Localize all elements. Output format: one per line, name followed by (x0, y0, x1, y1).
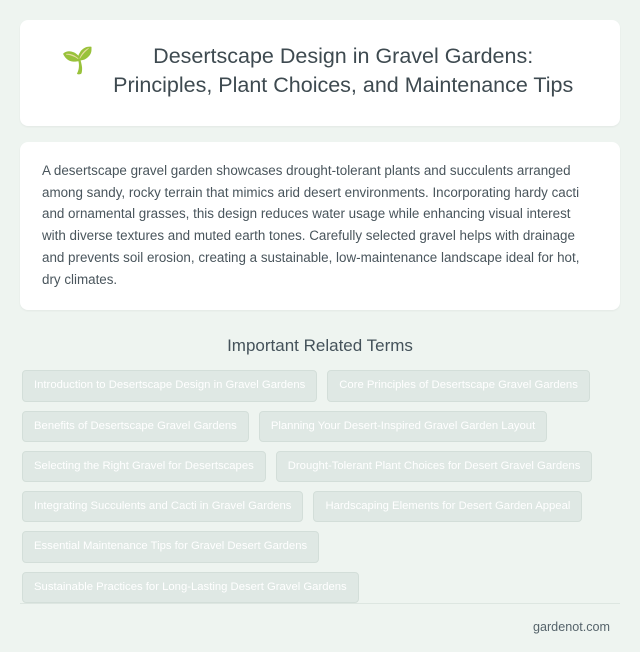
footer: gardenot.com (20, 603, 620, 652)
seedling-icon: 🌱 (62, 46, 94, 75)
related-terms-list: Introduction to Desertscape Design in Gr… (20, 370, 620, 603)
term-chip[interactable]: Essential Maintenance Tips for Gravel De… (22, 531, 319, 562)
term-chip[interactable]: Hardscaping Elements for Desert Garden A… (313, 491, 582, 522)
summary-card: A desertscape gravel garden showcases dr… (20, 142, 620, 310)
summary-paragraph: A desertscape gravel garden showcases dr… (42, 160, 598, 290)
title-card: 🌱 Desertscape Design in Gravel Gardens: … (20, 20, 620, 126)
term-chip[interactable]: Selecting the Right Gravel for Desertsca… (22, 451, 266, 482)
term-chip[interactable]: Core Principles of Desertscape Gravel Ga… (327, 370, 590, 401)
term-chip[interactable]: Drought-Tolerant Plant Choices for Deser… (276, 451, 593, 482)
related-terms-heading: Important Related Terms (20, 336, 620, 356)
term-chip[interactable]: Sustainable Practices for Long-Lasting D… (22, 572, 359, 603)
term-chip[interactable]: Introduction to Desertscape Design in Gr… (22, 370, 317, 401)
term-chip[interactable]: Integrating Succulents and Cacti in Grav… (22, 491, 303, 522)
page-root: 🌱 Desertscape Design in Gravel Gardens: … (0, 0, 640, 607)
footer-site-name: gardenot.com (533, 620, 610, 634)
term-chip[interactable]: Benefits of Desertscape Gravel Gardens (22, 411, 249, 442)
term-chip[interactable]: Planning Your Desert-Inspired Gravel Gar… (259, 411, 547, 442)
page-title: Desertscape Design in Gravel Gardens: Pr… (108, 42, 578, 100)
title-row: 🌱 Desertscape Design in Gravel Gardens: … (62, 42, 578, 100)
